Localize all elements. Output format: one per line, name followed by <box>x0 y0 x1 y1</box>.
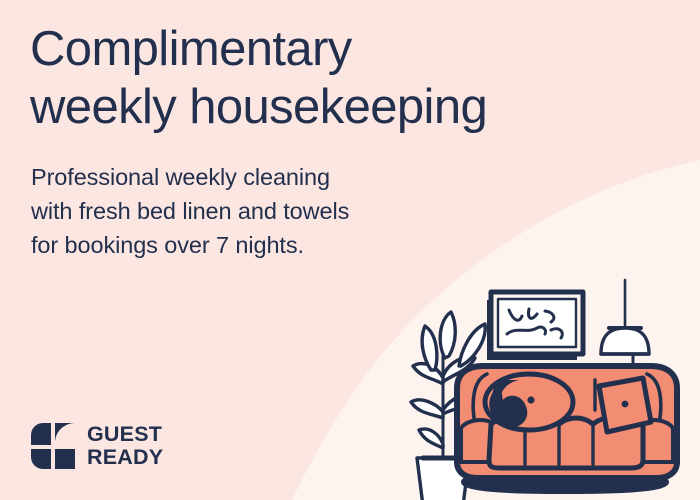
logo-wordmark: GUEST READY <box>87 423 163 469</box>
framed-artwork-icon <box>487 292 583 360</box>
round-cushion-icon <box>485 374 573 430</box>
coral-sofa-icon <box>457 366 677 494</box>
logo-line-2: READY <box>87 446 163 469</box>
promo-banner: Complimentary weekly housekeeping Profes… <box>0 0 700 500</box>
square-cushion-icon <box>599 378 651 432</box>
living-room-illustration <box>395 262 695 500</box>
subtitle-text: Professional weekly cleaning with fresh … <box>31 160 461 262</box>
page-title: Complimentary weekly housekeeping <box>30 20 650 136</box>
guestready-quadrant-icon <box>30 422 76 470</box>
brand-logo: GUEST READY <box>30 422 163 470</box>
logo-line-1: GUEST <box>87 423 163 446</box>
pendant-lamp-icon <box>601 280 649 372</box>
